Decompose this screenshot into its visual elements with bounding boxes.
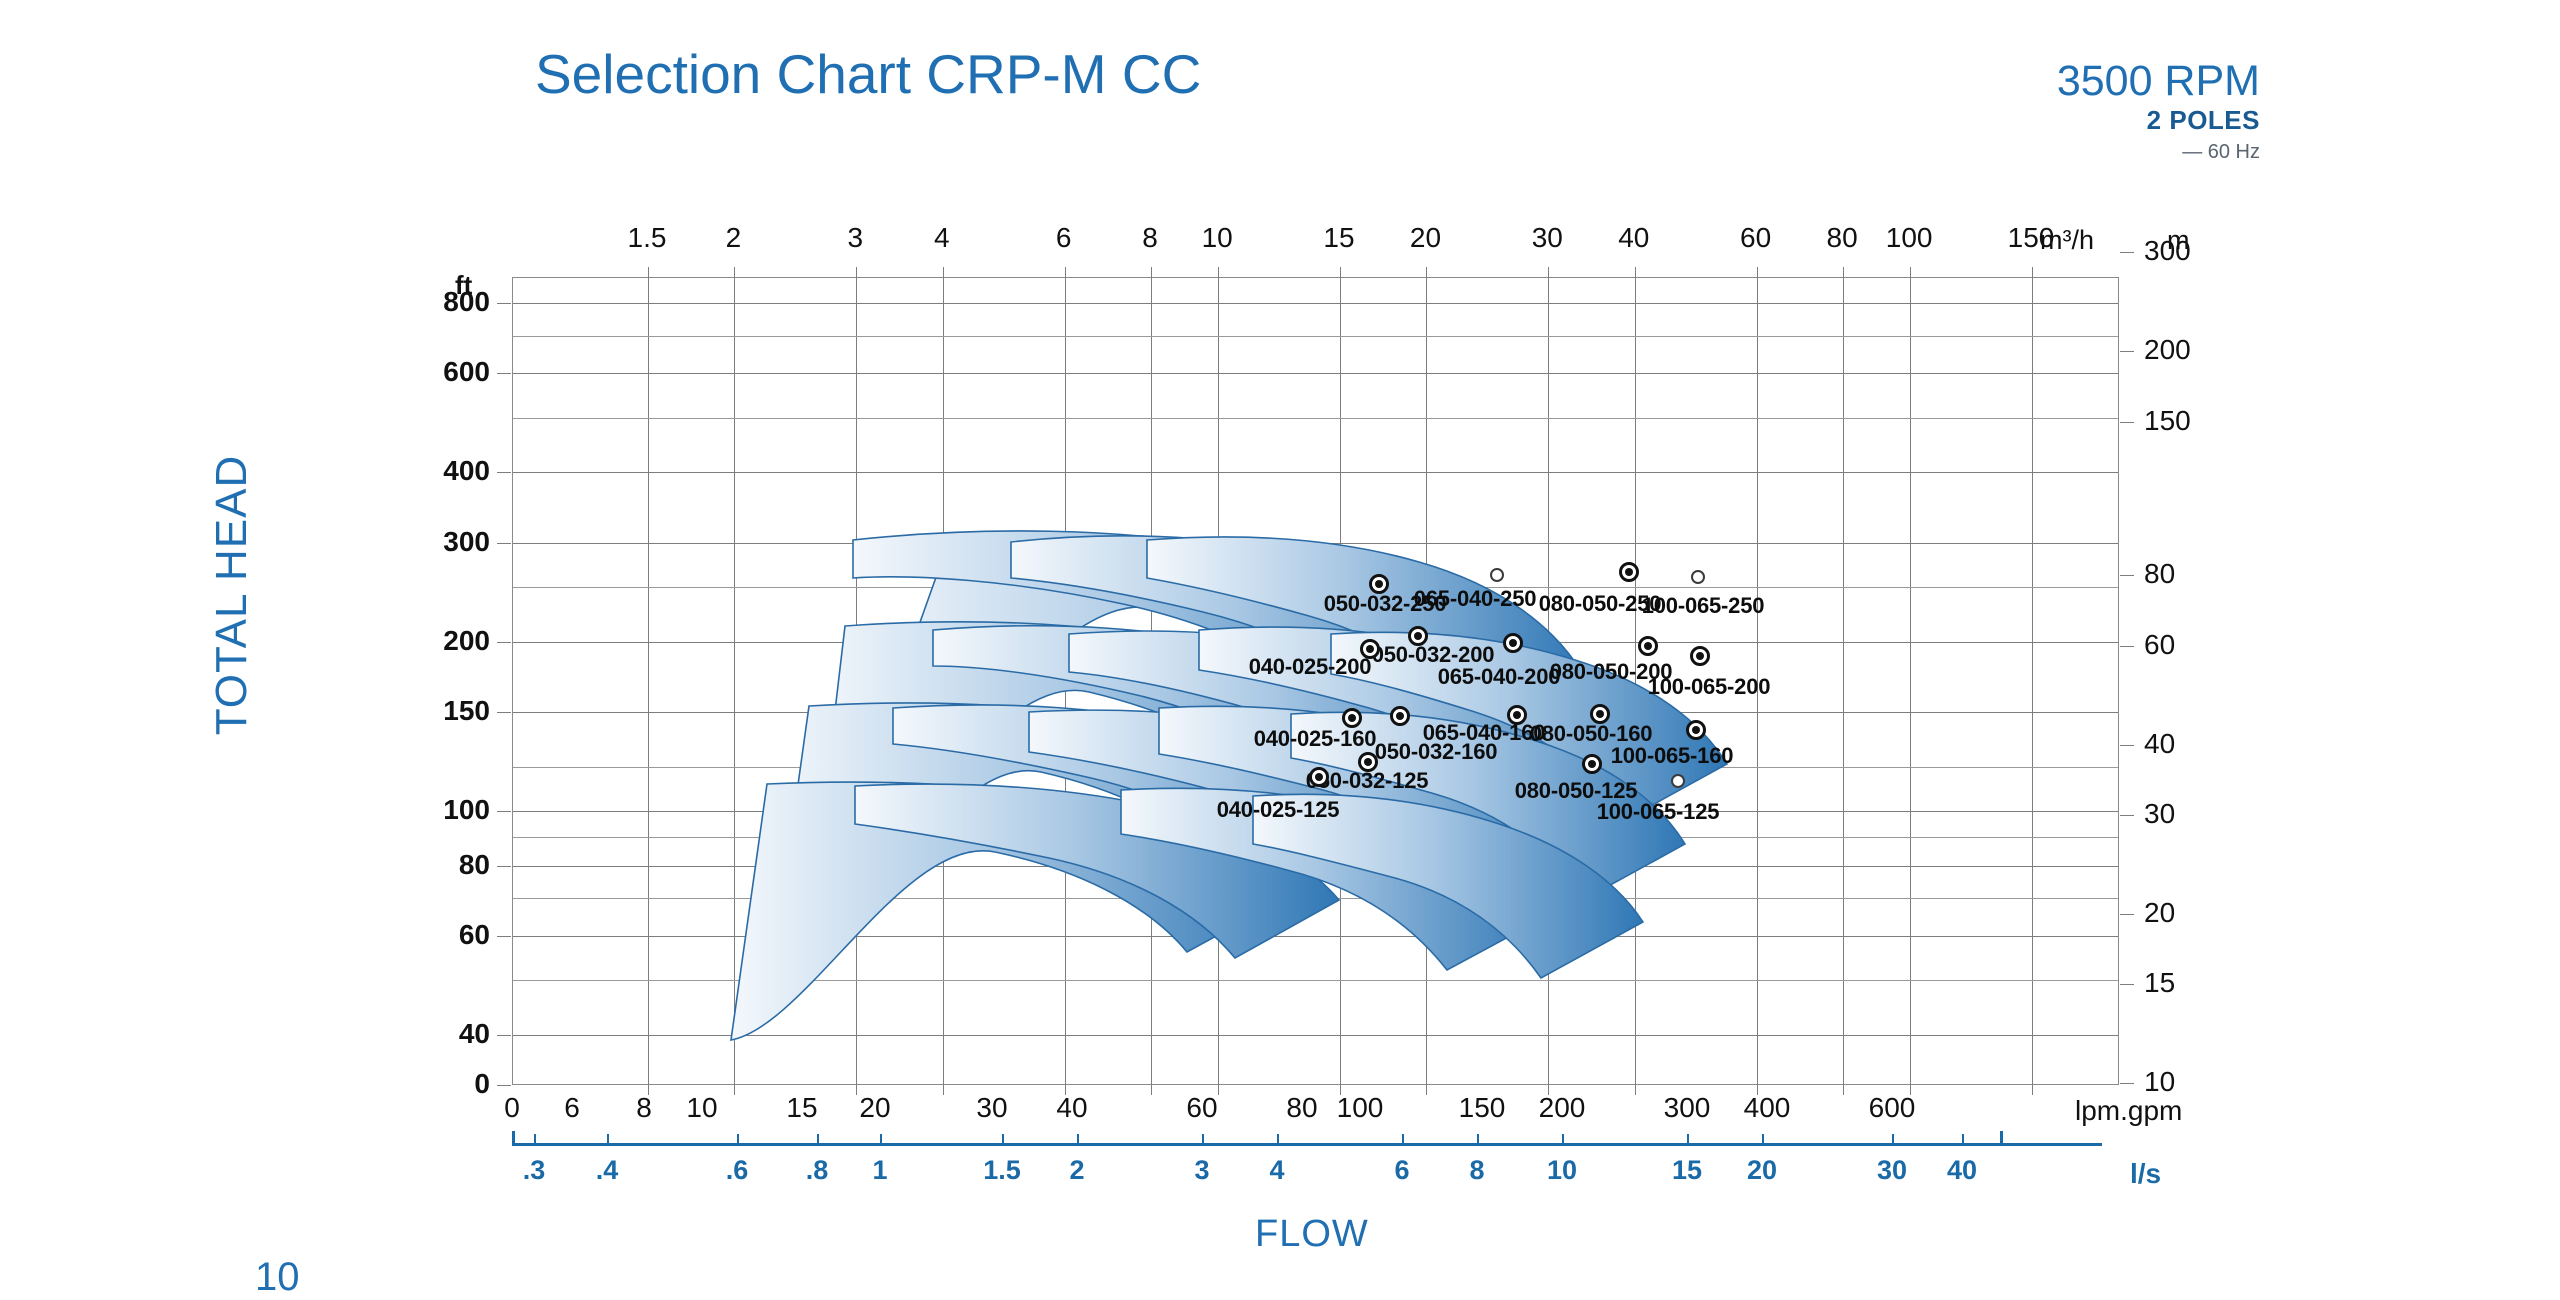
tick-top (1843, 267, 1844, 278)
tick-right (2120, 351, 2134, 352)
ls-ruler-tick (1762, 1134, 1764, 1143)
ls-ruler-tick (534, 1134, 536, 1143)
duty-point-marker-filled[interactable] (1582, 754, 1602, 774)
tick-left (497, 303, 511, 304)
y-right-tick-label: 10 (2144, 1066, 2264, 1098)
y-right-tick-label: 30 (2144, 798, 2264, 830)
tick-top (2032, 267, 2033, 278)
chart-plot-area: 050-032-250065-040-250080-050-250100-065… (512, 277, 2119, 1085)
x-bottom-tick-label: 6 (564, 1092, 580, 1124)
x-top-tick-label: 100 (1886, 222, 1933, 254)
y-right-tick-label: 20 (2144, 897, 2264, 929)
y-left-tick-label: 300 (340, 526, 490, 558)
pump-model-label[interactable]: 040-025-125 (1217, 797, 1340, 823)
x-top-tick-label: 2 (726, 222, 742, 254)
x-bottom-tick-label: 20 (859, 1092, 890, 1124)
pump-model-label[interactable]: 100-065-250 (1642, 593, 1765, 619)
ls-ruler-tick (817, 1134, 819, 1143)
x-top-tick-label: 80 (1827, 222, 1858, 254)
x-top-tick-label: 15 (1323, 222, 1354, 254)
tick-top (1218, 267, 1219, 278)
x-bottom-tick-label: 150 (1459, 1092, 1506, 1124)
ls-ruler-tick (1687, 1134, 1689, 1143)
page-title: Selection Chart CRP-M CC (535, 42, 1201, 106)
ls-ruler-tick (1077, 1134, 1079, 1143)
duty-point-marker-filled[interactable] (1369, 574, 1389, 594)
duty-point-marker-filled[interactable] (1507, 705, 1527, 725)
tick-top (1757, 267, 1758, 278)
y-right-tick-label: 60 (2144, 629, 2264, 661)
tick-left (497, 472, 511, 473)
tick-left (497, 866, 511, 867)
x-third-tick-label: 6 (1394, 1155, 1409, 1186)
x-third-tick-label: 3 (1194, 1155, 1209, 1186)
x-bottom-unit-label: lpm.gpm (2075, 1095, 2182, 1127)
x-top-tick-label: 60 (1740, 222, 1771, 254)
y-right-tick-label: 200 (2144, 334, 2264, 366)
selection-chart-page: Selection Chart CRP-M CC 3500 RPM 2 POLE… (0, 0, 2560, 1280)
x-third-tick-label: 8 (1469, 1155, 1484, 1186)
duty-point-marker-filled[interactable] (1690, 646, 1710, 666)
pump-model-label[interactable]: 040-025-200 (1249, 654, 1372, 680)
tick-left (497, 642, 511, 643)
pump-model-label[interactable]: 065-040-200 (1438, 664, 1561, 690)
ls-ruler-tick (1562, 1134, 1564, 1143)
x-third-unit-label: l/s (2130, 1158, 2161, 1190)
x-bottom-tick-label: 200 (1539, 1092, 1586, 1124)
y-right-tick-label: 300 (2144, 235, 2264, 267)
frequency-value: — 60 Hz (2057, 138, 2260, 166)
tick-right (2120, 815, 2134, 816)
x-top-tick-label: 20 (1410, 222, 1441, 254)
x-bottom-tick-label: 600 (1869, 1092, 1916, 1124)
tick-right (2120, 646, 2134, 647)
tick-right (2120, 1083, 2134, 1084)
x-bottom-tick-label: 30 (976, 1092, 1007, 1124)
y-left-tick-label: 40 (340, 1018, 490, 1050)
pump-performance-bands (513, 278, 2120, 1086)
y-left-tick-label: 800 (340, 286, 490, 318)
duty-point-marker-filled[interactable] (1590, 704, 1610, 724)
tick-left (497, 373, 511, 374)
y-right-tick-label: 15 (2144, 967, 2264, 999)
x-top-tick-label: 40 (1618, 222, 1649, 254)
x-bottom-tick-label: 400 (1744, 1092, 1791, 1124)
tick-top (734, 267, 735, 278)
y-left-tick-label: 600 (340, 356, 490, 388)
y-left-tick-label: 200 (340, 625, 490, 657)
x-third-tick-label: 40 (1947, 1155, 1977, 1186)
tick-right (2120, 575, 2134, 576)
tick-top (1910, 267, 1911, 278)
duty-point-marker-filled[interactable] (1503, 633, 1523, 653)
duty-point-marker-filled[interactable] (1619, 562, 1639, 582)
tick-top (1426, 267, 1427, 278)
y-left-tick-label: 80 (340, 849, 490, 881)
pump-model-label[interactable]: 100-065-200 (1648, 674, 1771, 700)
pump-model-label[interactable]: 065-040-250 (1414, 586, 1537, 612)
ls-ruler-tick (1402, 1134, 1404, 1143)
x-third-tick-label: 2 (1069, 1155, 1084, 1186)
tick-top (1635, 267, 1636, 278)
x-third-tick-label: 10 (1547, 1155, 1577, 1186)
y-right-tick-label: 80 (2144, 558, 2264, 590)
x-third-tick-label: 1.5 (983, 1155, 1021, 1186)
x-third-tick-label: .6 (726, 1155, 749, 1186)
x-third-tick-label: .4 (596, 1155, 619, 1186)
pump-model-label[interactable]: 040-025-160 (1254, 726, 1377, 752)
x-top-tick-label: 30 (1532, 222, 1563, 254)
tick-left (497, 936, 511, 937)
tick-top (1548, 267, 1549, 278)
x-third-tick-label: 20 (1747, 1155, 1777, 1186)
x-third-tick-label: 4 (1269, 1155, 1284, 1186)
x-third-tick-label: .3 (523, 1155, 546, 1186)
x-third-tick-label: .8 (806, 1155, 829, 1186)
duty-point-marker-filled[interactable] (1638, 636, 1658, 656)
y-right-tick-label: 40 (2144, 728, 2264, 760)
x-top-tick-label: 6 (1056, 222, 1072, 254)
duty-point-marker-filled[interactable] (1309, 767, 1329, 787)
tick-left (497, 543, 511, 544)
y-left-tick-label: 0 (340, 1068, 490, 1100)
y-left-tick-label: 60 (340, 919, 490, 951)
tick-right (2120, 914, 2134, 915)
tick-top (648, 267, 649, 278)
y-left-tick-label: 100 (340, 794, 490, 826)
tick-right (2120, 422, 2134, 423)
tick-left (497, 1035, 511, 1036)
x-bottom-tick-label: 10 (686, 1092, 717, 1124)
ls-ruler-tick (1892, 1134, 1894, 1143)
pump-model-label[interactable]: 065-040-160 (1423, 720, 1546, 746)
ls-ruler-tick (1277, 1134, 1279, 1143)
x-bottom-tick-label: 100 (1337, 1092, 1384, 1124)
duty-point-marker-hollow[interactable] (1691, 570, 1705, 584)
y-right-tick-label: 150 (2144, 405, 2264, 437)
duty-point-marker-filled[interactable] (1358, 752, 1378, 772)
x-bottom-tick-label: 15 (786, 1092, 817, 1124)
pump-model-label[interactable]: 100-065-160 (1611, 743, 1734, 769)
ls-ruler-tick (1202, 1134, 1204, 1143)
x-axis-title: FLOW (1255, 1213, 1369, 1256)
tick-right (2120, 252, 2134, 253)
x-top-tick-label: 150 (2008, 222, 2055, 254)
tick-right (2120, 984, 2134, 985)
ls-ruler-end (2000, 1131, 2003, 1146)
tick-top (1340, 267, 1341, 278)
tick-left (497, 811, 511, 812)
ls-ruler-tick (880, 1134, 882, 1143)
poles-value: 2 POLES (2057, 103, 2260, 138)
duty-point-marker-hollow[interactable] (1490, 568, 1504, 582)
page-number: 10 (255, 1255, 300, 1300)
pump-model-label[interactable]: 100-065-125 (1597, 799, 1720, 825)
x-third-tick-label: 1 (872, 1155, 887, 1186)
x-top-tick-label: 4 (934, 222, 950, 254)
duty-point-marker-filled[interactable] (1360, 639, 1380, 659)
x-bottom-tick-label: 80 (1286, 1092, 1317, 1124)
y-left-tick-label: 150 (340, 695, 490, 727)
tick-left (497, 712, 511, 713)
speed-info-block: 3500 RPM 2 POLES — 60 Hz (2057, 60, 2260, 166)
x-third-tick-label: 30 (1877, 1155, 1907, 1186)
tick-top (943, 267, 944, 278)
x-top-tick-label: 8 (1142, 222, 1158, 254)
duty-point-marker-filled[interactable] (1686, 720, 1706, 740)
rpm-value: 3500 RPM (2057, 60, 2260, 103)
ls-ruler (512, 1143, 2102, 1146)
x-bottom-tick-label: 8 (636, 1092, 652, 1124)
duty-point-marker-filled[interactable] (1408, 626, 1428, 646)
ls-ruler-tick (737, 1134, 739, 1143)
ls-ruler-tick (607, 1134, 609, 1143)
duty-point-marker-hollow[interactable] (1671, 774, 1685, 788)
y-left-tick-label: 400 (340, 455, 490, 487)
x-bottom-tick-label: 0 (504, 1092, 520, 1124)
duty-point-marker-filled[interactable] (1342, 708, 1362, 728)
x-top-tick-label: 3 (848, 222, 864, 254)
x-bottom-tick-label: 300 (1664, 1092, 1711, 1124)
ls-ruler-tick (1002, 1134, 1004, 1143)
x-bottom-tick-label: 60 (1186, 1092, 1217, 1124)
tick-top (1065, 267, 1066, 278)
tick-top (856, 267, 857, 278)
duty-point-marker-filled[interactable] (1390, 706, 1410, 726)
x-bottom-tick-label: 40 (1056, 1092, 1087, 1124)
tick-right (2120, 745, 2134, 746)
ls-ruler-tick (1962, 1134, 1964, 1143)
y-axis-title: TOTAL HEAD (207, 355, 257, 835)
x-top-tick-label: 10 (1202, 222, 1233, 254)
tick-left (497, 1085, 511, 1086)
x-third-tick-label: 15 (1672, 1155, 1702, 1186)
ls-ruler-tick (1477, 1134, 1479, 1143)
x-top-tick-label: 1.5 (628, 222, 667, 254)
ls-ruler-end (512, 1131, 515, 1146)
tick-top (1151, 267, 1152, 278)
